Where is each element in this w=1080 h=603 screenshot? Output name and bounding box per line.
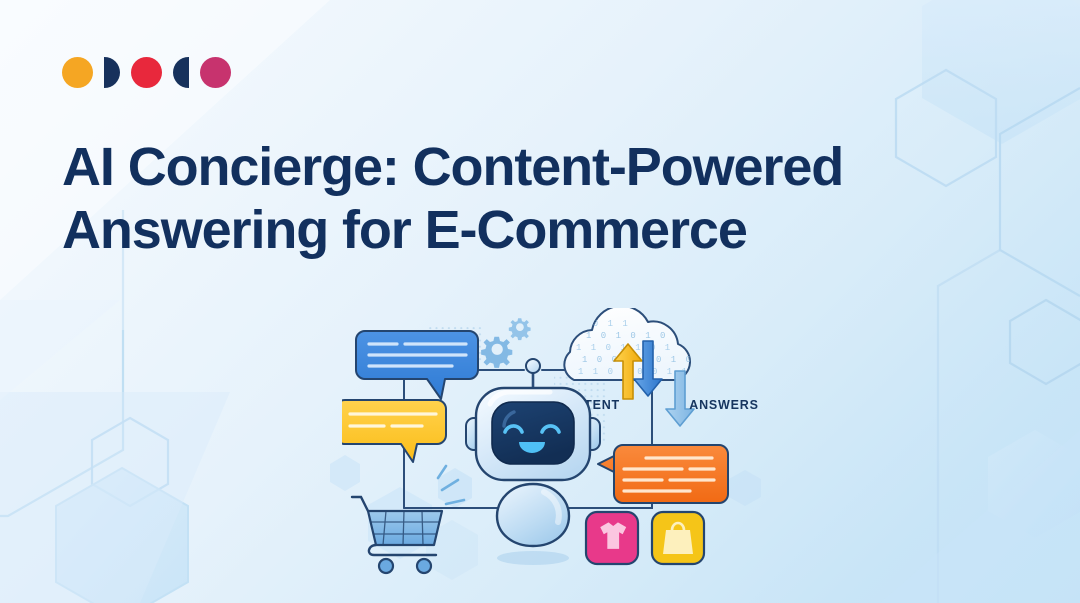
hexagon-outline-right [1010, 300, 1080, 384]
brand-logo[interactable] [62, 55, 231, 89]
label-answers: ANSWERS [689, 398, 759, 412]
logo-dot-magenta [200, 57, 231, 88]
svg-text:1 0 1 1: 1 0 1 1 [578, 319, 630, 329]
page-title: AI Concierge: Content-Powered Answering … [62, 136, 1042, 262]
chat-bubble-yellow [342, 400, 446, 462]
ai-concierge-illustration: 1 0 1 1 1 0 1 0 1 0 1 1 0 1 1 0 1 1 0 0 … [342, 308, 762, 603]
logo-half-navy-2 [173, 57, 189, 88]
product-tile-bag[interactable] [652, 512, 704, 564]
slide-canvas: AI Concierge: Content-Powered Answering … [0, 0, 1080, 603]
chat-bubble-orange [598, 445, 728, 503]
hexagon-outline-left [92, 418, 168, 506]
logo-half-navy-1 [104, 57, 120, 88]
hexagon-fill-bottomleft [56, 468, 188, 603]
title-line-2: Answering for E-Commerce [62, 199, 1042, 262]
chat-bubble-blue [356, 331, 478, 399]
hexagon-fill-right-lower [988, 430, 1080, 538]
circuit-line-left [0, 330, 123, 516]
svg-text:1 0 1 0 1 0: 1 0 1 0 1 0 [586, 331, 667, 341]
title-line-1: AI Concierge: Content-Powered [62, 136, 1042, 199]
gear-icon [481, 337, 512, 368]
logo-dot-red [131, 57, 162, 88]
gear-icon-small [509, 318, 531, 340]
logo-dot-orange [62, 57, 93, 88]
sparkle-icon [438, 466, 464, 504]
hexagon-fill-topright [922, 0, 1080, 144]
product-tile-shirt[interactable] [586, 512, 638, 564]
